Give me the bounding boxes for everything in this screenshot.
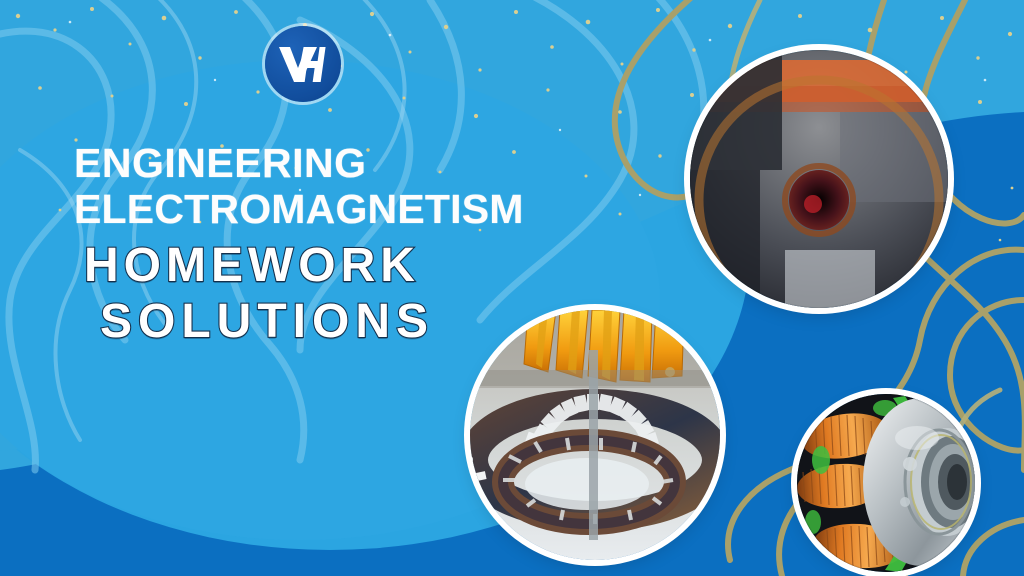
toroid-photo-art: [690, 50, 948, 308]
headline-line-3: HOMEWORK: [84, 238, 634, 294]
headline-line-1: ENGINEERING: [74, 140, 634, 186]
rotor-photo-art: [797, 394, 975, 572]
poster-canvas: ENGINEERING ELECTROMAGNETISM HOMEWORK SO…: [0, 0, 1024, 576]
vh-letters-icon: [277, 44, 329, 84]
motor-rotor-copper-windings-bearing-photo: [797, 394, 975, 572]
headline-line-2: ELECTROMAGNETISM: [74, 186, 634, 232]
vh-monogram-logo[interactable]: [265, 26, 341, 102]
electric-motor-stator-laminations-photo: [470, 310, 720, 560]
stator-photo-art: [470, 310, 720, 560]
toroidal-copper-inductor-coil-photo: [690, 50, 948, 308]
